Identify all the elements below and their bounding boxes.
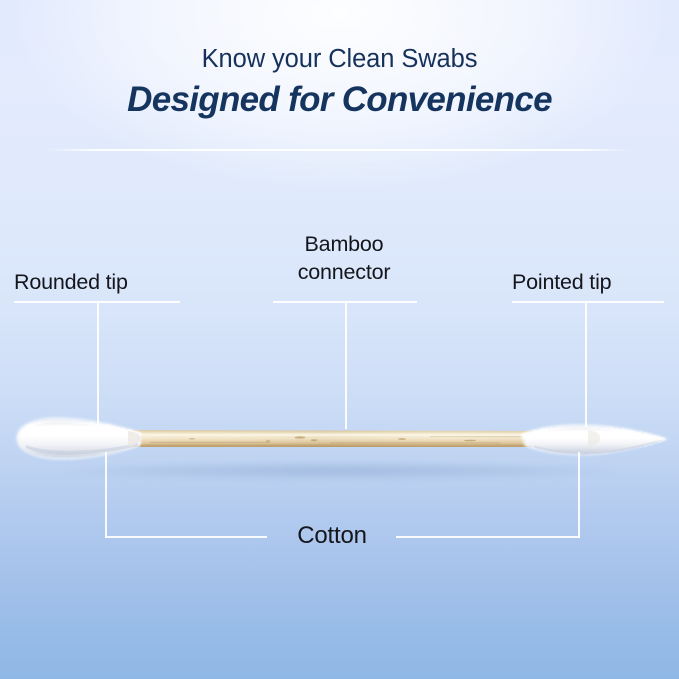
cotton-bracket-rule-left <box>105 536 267 538</box>
callout-label-pointed-tip: Pointed tip <box>512 268 664 296</box>
infographic-canvas: Know your Clean Swabs Designed for Conve… <box>0 0 679 679</box>
callout-leader-pointed-tip <box>585 301 587 427</box>
callout-label-bamboo-connector: Bamboo connector <box>272 230 416 287</box>
rounded-cotton-tip <box>16 417 141 460</box>
callout-leader-rounded-tip <box>97 301 99 433</box>
cotton-bracket-left-leader <box>105 452 107 538</box>
callout-label-cotton: Cotton <box>262 522 402 551</box>
header-divider <box>48 149 631 151</box>
header-kicker: Know your Clean Swabs <box>0 44 679 74</box>
callout-label-rounded-tip: Rounded tip <box>14 268 180 296</box>
header-headline: Designed for Convenience <box>0 80 679 121</box>
pointed-cotton-tip <box>520 424 668 456</box>
callout-underline-pointed-tip <box>512 301 664 303</box>
callout-leader-bamboo-connector <box>345 301 347 429</box>
cotton-bracket-right-leader <box>578 452 580 538</box>
header-block: Know your Clean Swabs Designed for Conve… <box>0 44 679 121</box>
cotton-bracket-rule-right <box>396 536 580 538</box>
